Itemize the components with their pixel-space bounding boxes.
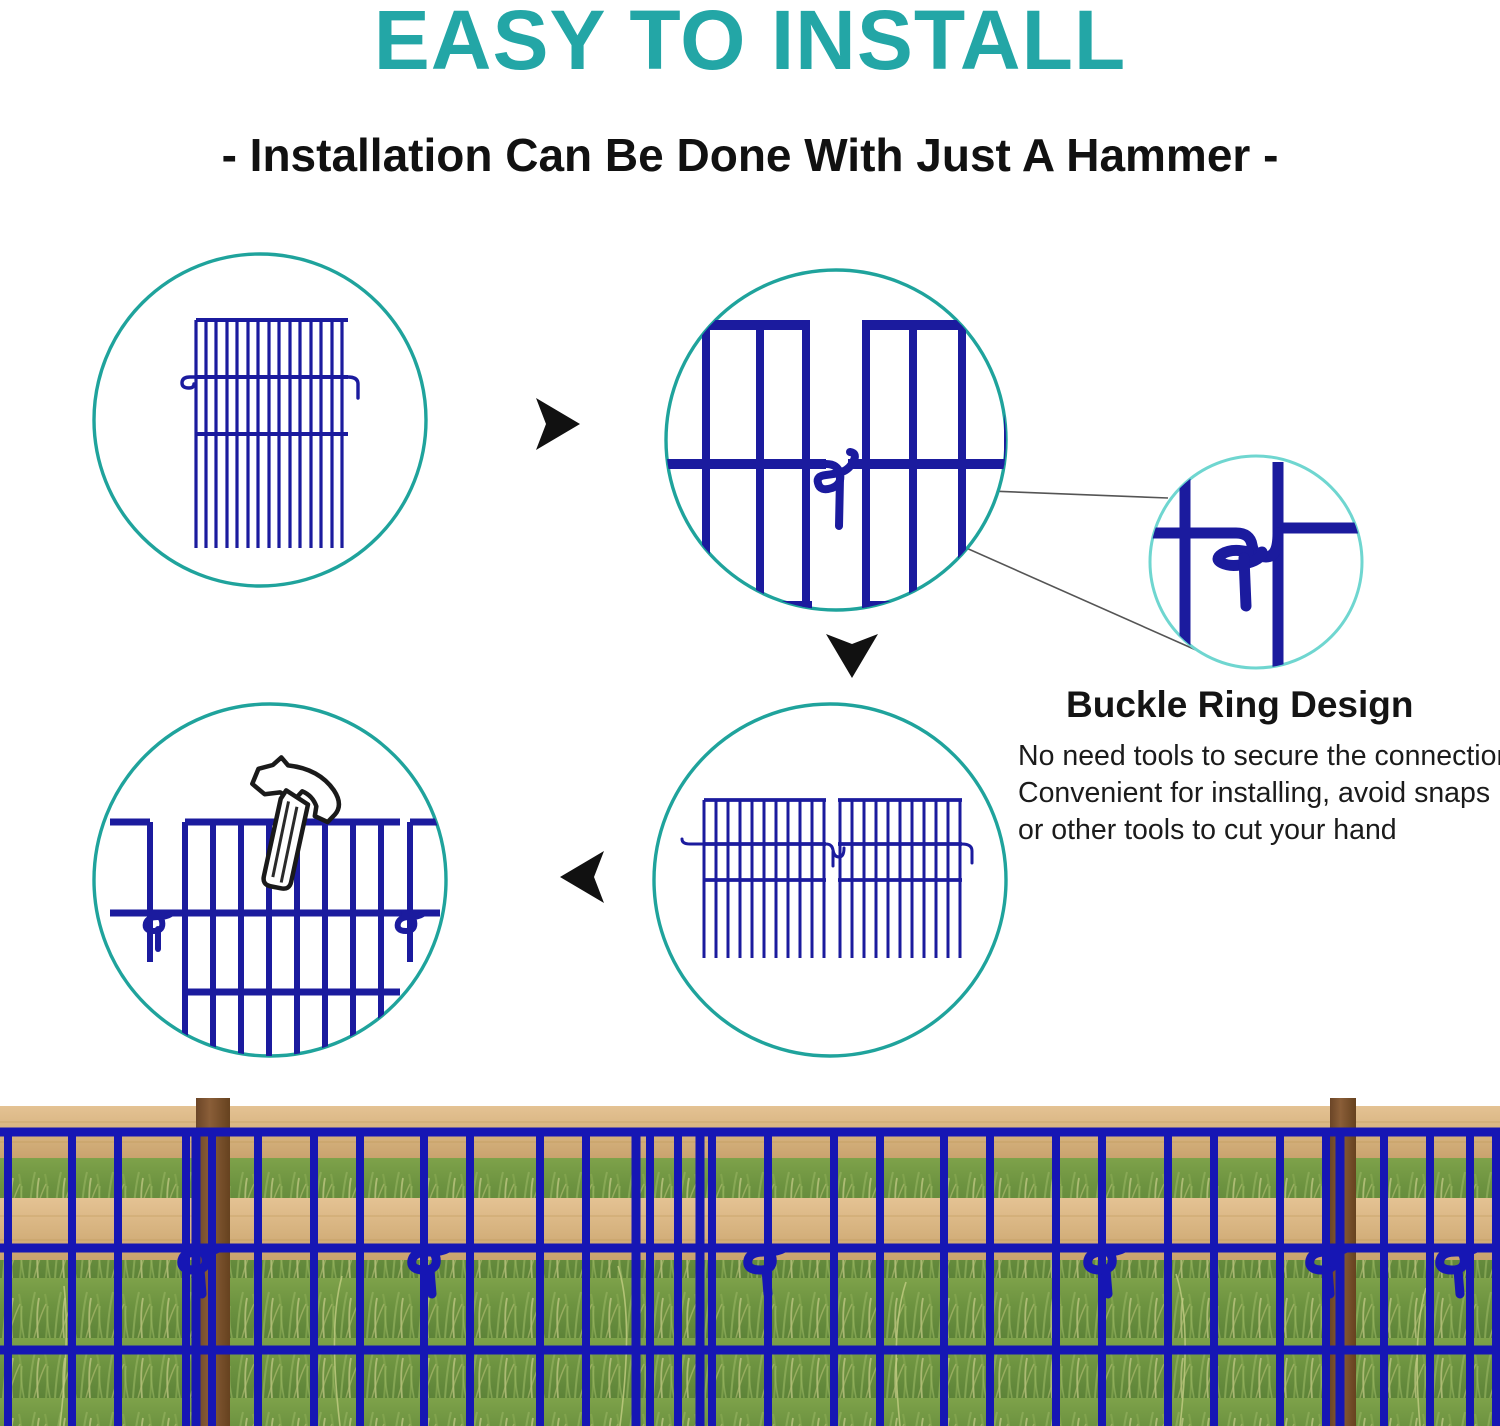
step-4-hammer-install <box>94 704 446 1070</box>
arrow-down-step2-to-step3 <box>826 634 878 678</box>
callout-line-1: No need tools to secure the connection <box>1018 738 1496 775</box>
callout-line-3: or other tools to cut your hand <box>1018 812 1496 849</box>
detail-buckle-ring-magnified <box>1148 456 1362 668</box>
photo-scene <box>0 1098 1500 1426</box>
step-2-join-closeup <box>640 270 1018 610</box>
callout-line-2: Convenient for installing, avoid snaps <box>1018 775 1496 812</box>
arrow-right-step1-to-step2 <box>536 398 580 450</box>
step-3-two-panels <box>654 704 1006 1056</box>
callout-heading: Buckle Ring Design <box>1066 684 1486 726</box>
step-1-circle-outline <box>94 254 426 586</box>
step-1-single-panel <box>94 254 426 586</box>
arrow-left-step3-to-step4 <box>560 851 604 903</box>
callout-body: No need tools to secure the connection C… <box>1018 738 1496 849</box>
infographic-root: EASY TO INSTALL - Installation Can Be Do… <box>0 0 1500 1426</box>
installed-fence-photo <box>0 1098 1500 1426</box>
